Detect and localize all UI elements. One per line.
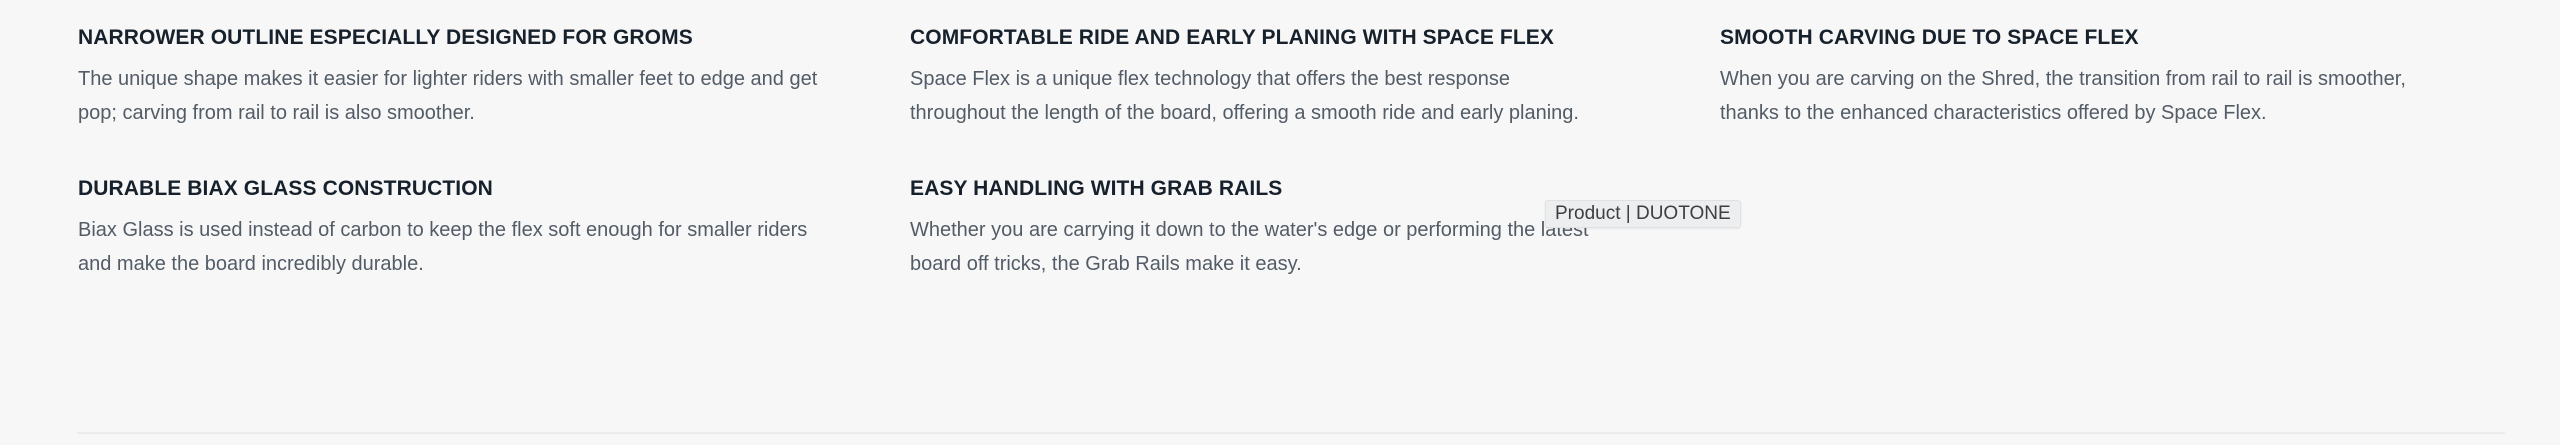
feature-title: EASY HANDLING WITH GRAB RAILS <box>910 173 1610 205</box>
feature-block-comfortable-ride: COMFORTABLE RIDE AND EARLY PLANING WITH … <box>910 0 1720 140</box>
feature-title: NARROWER OUTLINE ESPECIALLY DESIGNED FOR… <box>78 22 778 54</box>
feature-body: Whether you are carrying it down to the … <box>910 213 1610 281</box>
browser-status-tooltip: Product | DUOTONE <box>1545 200 1741 228</box>
feature-grid: NARROWER OUTLINE ESPECIALLY DESIGNED FOR… <box>78 0 2508 291</box>
product-features-section: NARROWER OUTLINE ESPECIALLY DESIGNED FOR… <box>0 0 2560 445</box>
feature-body: When you are carving on the Shred, the t… <box>1720 62 2430 130</box>
feature-title: DURABLE BIAX GLASS CONSTRUCTION <box>78 173 778 205</box>
feature-title: SMOOTH CARVING DUE TO SPACE FLEX <box>1720 22 2430 54</box>
feature-body: Space Flex is a unique flex technology t… <box>910 62 1610 130</box>
section-divider <box>77 432 2505 434</box>
feature-block-narrower-outline: NARROWER OUTLINE ESPECIALLY DESIGNED FOR… <box>78 0 910 140</box>
feature-block-placeholder <box>1720 140 2508 291</box>
feature-body: The unique shape makes it easier for lig… <box>78 62 823 130</box>
feature-body: Biax Glass is used instead of carbon to … <box>78 213 823 281</box>
feature-title: COMFORTABLE RIDE AND EARLY PLANING WITH … <box>910 22 1610 54</box>
feature-block-durable-biax-glass: DURABLE BIAX GLASS CONSTRUCTION Biax Gla… <box>78 140 910 291</box>
feature-block-smooth-carving: SMOOTH CARVING DUE TO SPACE FLEX When yo… <box>1720 0 2508 140</box>
